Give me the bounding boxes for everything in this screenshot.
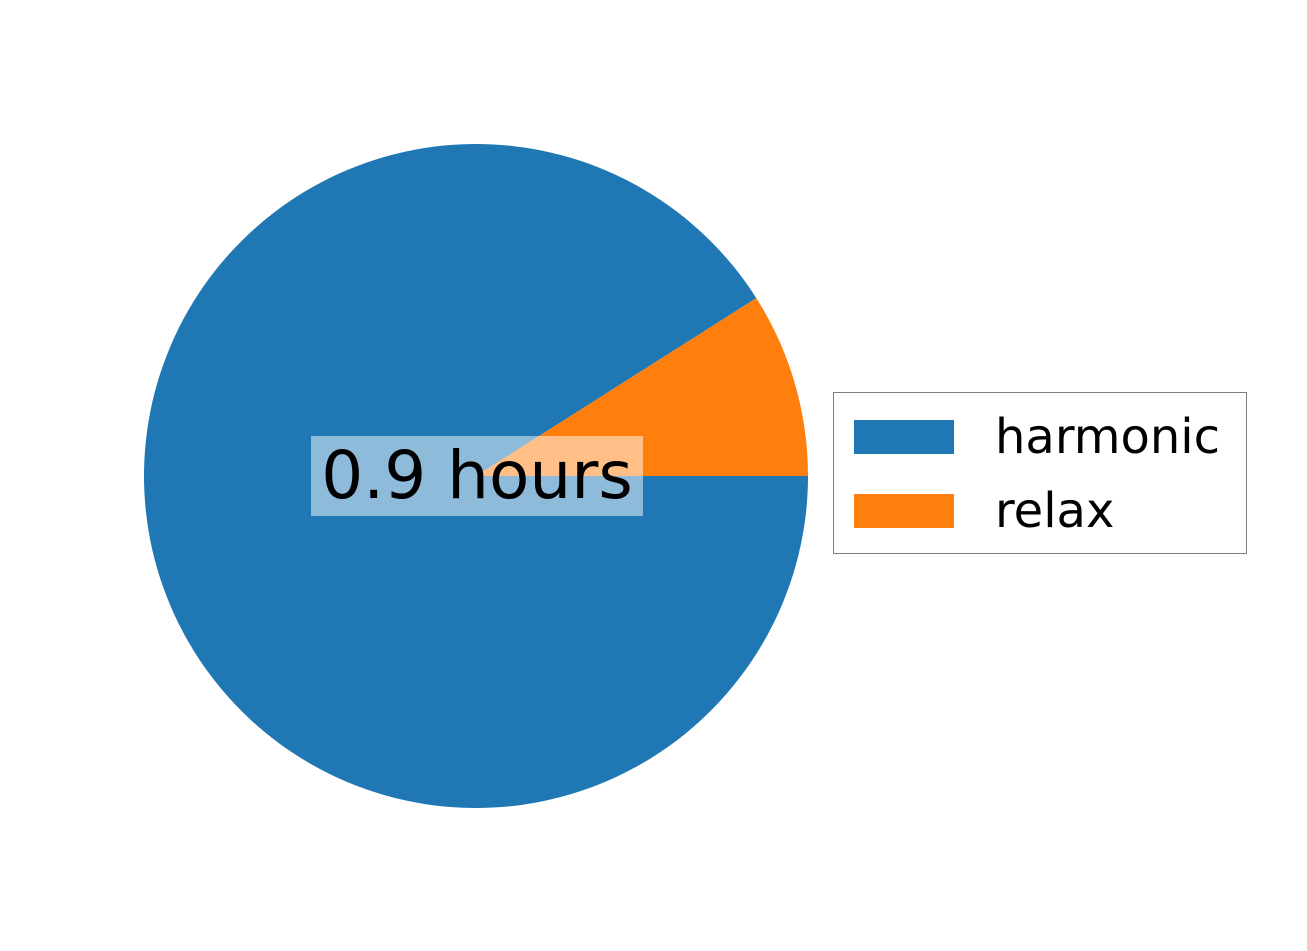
legend-item-harmonic[interactable]: harmonic: [834, 407, 1246, 467]
legend-label-relax: relax: [995, 487, 1114, 535]
legend-label-harmonic: harmonic: [995, 413, 1220, 461]
legend-swatch-relax: [854, 494, 954, 528]
legend-box: harmonic relax: [833, 392, 1247, 554]
wedge-value-label-text: 0.9 hours: [321, 443, 633, 509]
legend-item-relax[interactable]: relax: [834, 481, 1246, 541]
legend-swatch-harmonic: [854, 420, 954, 454]
wedge-value-label: 0.9 hours: [311, 436, 643, 516]
figure-canvas: 0.9 hours harmonic relax: [0, 0, 1307, 951]
